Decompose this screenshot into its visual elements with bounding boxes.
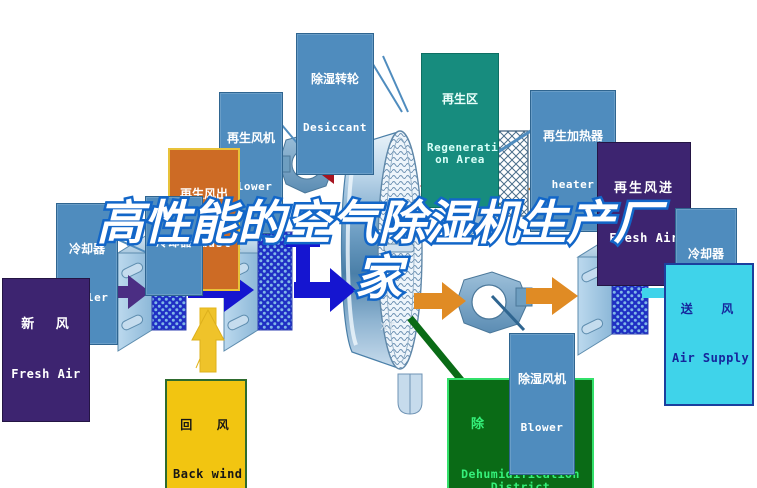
diagram-canvas: xt 除湿转轮 Desiccant 再生风机 Blower 再生区 Regene… [0, 0, 757, 488]
label-fresh-air-cn: 新 风 [9, 318, 83, 333]
label-regeneration-area-en: Regenerati on Area [427, 142, 493, 167]
label-regeneration-blower-cn: 再生风机 [225, 132, 277, 145]
label-cooler-mid[interactable]: 冷却器 [145, 196, 203, 296]
faint-watermark: xt [380, 319, 396, 334]
label-regeneration-area[interactable]: 再生区 Regenerati on Area [421, 53, 499, 208]
label-fresh-air-en: Fresh Air [9, 368, 83, 381]
label-dehumidification-blower-cn: 除湿风机 [515, 373, 569, 386]
label-desiccant-wheel-en: Desiccant [302, 122, 368, 134]
label-cooler-mid-cn: 冷却器 [151, 236, 197, 249]
arrow-back-wind-in [192, 308, 224, 372]
label-dehumidification-blower[interactable]: 除湿风机 Blower [509, 333, 575, 475]
label-back-wind[interactable]: 回 风 Back wind [165, 379, 247, 488]
label-cooler-right-cn: 冷却器 [681, 248, 731, 261]
label-regeneration-area-cn: 再生区 [427, 93, 493, 106]
label-air-supply[interactable]: 送 风 Air Supply [664, 263, 754, 406]
label-desiccant-wheel[interactable]: 除湿转轮 Desiccant [296, 33, 374, 175]
drain-tray [398, 374, 422, 414]
arrow-dry-air-out [414, 282, 466, 320]
label-air-supply-en: Air Supply [672, 352, 746, 365]
label-fresh-air[interactable]: 新 风 Fresh Air [2, 278, 90, 422]
label-regeneration-air-inlet-en: Fresh Air [604, 232, 684, 245]
label-dehumidification-blower-en: Blower [515, 422, 569, 434]
label-air-supply-cn: 送 风 [672, 303, 746, 316]
label-regeneration-air-inlet-cn: 再生风进 [604, 182, 684, 197]
arrow-blower-to-cooler [526, 277, 578, 315]
label-desiccant-wheel-cn: 除湿转轮 [302, 73, 368, 86]
label-back-wind-en: Back wind [173, 468, 239, 481]
label-back-wind-cn: 回 风 [173, 419, 239, 432]
label-cooler-left-cn: 冷却器 [62, 243, 112, 256]
process-fan [457, 272, 532, 333]
